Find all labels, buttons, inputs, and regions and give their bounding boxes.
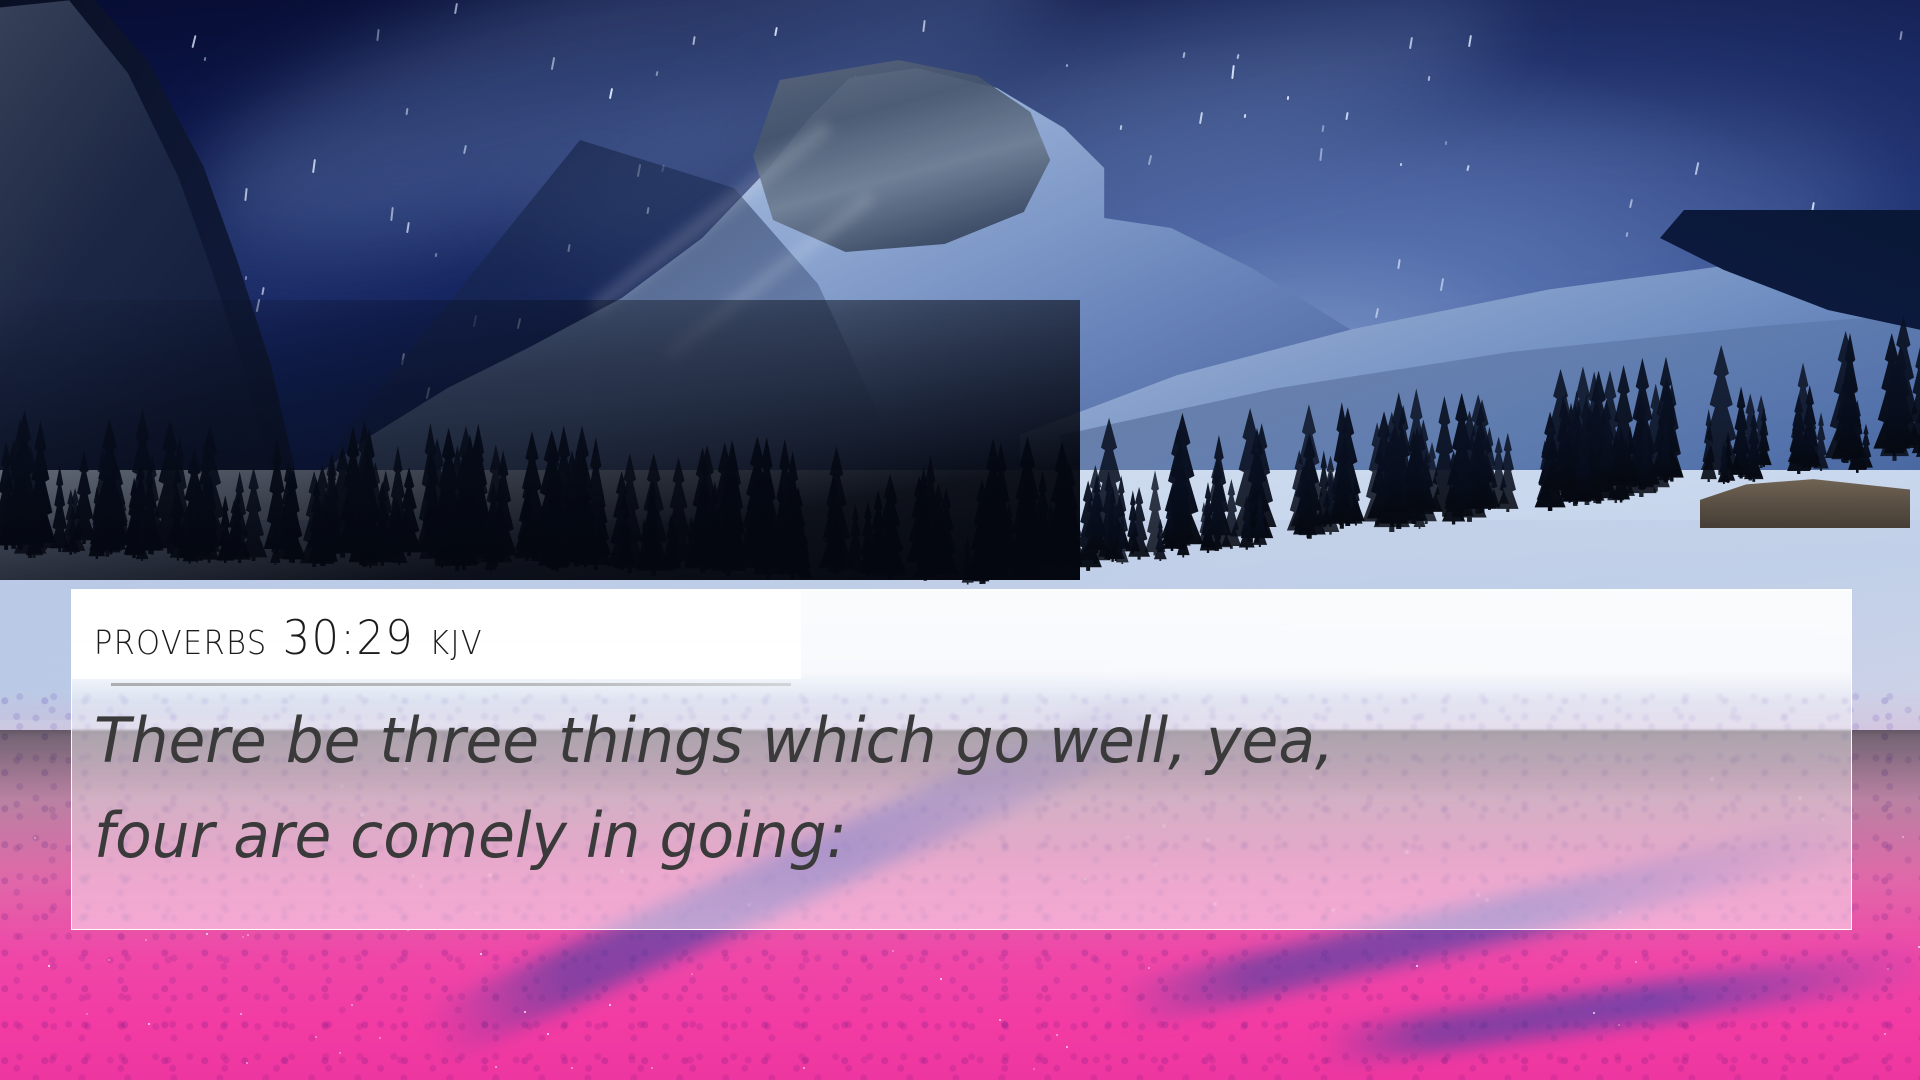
snow-sparkle	[651, 1067, 653, 1069]
snow-sparkle	[242, 936, 244, 938]
snow-sparkle	[246, 1062, 248, 1064]
star	[406, 108, 408, 115]
snow-sparkle	[240, 1013, 242, 1015]
snow-sparkle	[1887, 968, 1889, 970]
snow-sparkle	[379, 1037, 381, 1039]
star	[1319, 148, 1322, 161]
star	[1120, 125, 1122, 130]
star	[655, 71, 658, 76]
star	[1428, 76, 1430, 81]
star	[1322, 125, 1324, 132]
snow-sparkle	[892, 950, 894, 952]
snow-sparkle	[1593, 1012, 1595, 1014]
star	[1236, 54, 1239, 59]
verse-reference: Proverbs 30:29 KJV	[94, 611, 483, 666]
snow-sparkle	[940, 978, 942, 980]
forest-shadow	[0, 300, 1080, 580]
star	[1409, 37, 1412, 49]
star	[1625, 232, 1628, 237]
snow-sparkle	[495, 1066, 497, 1068]
verse-panel: Proverbs 30:29 KJV There be three things…	[71, 589, 1852, 930]
snow-sparkle	[547, 1033, 549, 1035]
snow-sparkle	[999, 1019, 1001, 1021]
star	[1695, 162, 1699, 175]
star	[609, 88, 613, 99]
star	[1287, 96, 1289, 100]
star	[1468, 35, 1471, 47]
snow-sparkle	[1056, 1034, 1058, 1036]
snow-sparkle	[86, 1013, 88, 1015]
star	[1400, 163, 1402, 166]
star	[1899, 31, 1902, 40]
snow-sparkle	[247, 934, 249, 936]
snow-sparkle	[145, 939, 147, 941]
star	[1182, 52, 1185, 58]
reference-underline	[111, 683, 791, 686]
snow-sparkle	[480, 953, 482, 955]
snow-sparkle	[1884, 1033, 1886, 1035]
star	[1466, 165, 1469, 171]
star	[406, 222, 409, 233]
star	[1231, 65, 1234, 79]
star	[922, 20, 925, 32]
star	[1445, 141, 1447, 145]
wallpaper-scene: Proverbs 30:29 KJV There be three things…	[0, 0, 1920, 1080]
star	[463, 145, 466, 154]
snow-sparkle	[206, 933, 208, 935]
snow-sparkle	[34, 837, 36, 839]
snow-sparkle	[1635, 961, 1637, 963]
star	[774, 27, 777, 36]
snow-sparkle	[609, 1004, 611, 1006]
star	[191, 35, 196, 48]
snow-sparkle	[803, 1067, 805, 1069]
star	[692, 36, 695, 45]
star	[1148, 155, 1152, 165]
star	[390, 207, 393, 221]
snow-sparkle	[691, 973, 693, 975]
snow-sparkle	[339, 1052, 341, 1054]
snow-sparkle	[108, 959, 110, 961]
snow-sparkle	[1148, 967, 1150, 969]
star	[1066, 64, 1068, 67]
snow-sparkle	[148, 1023, 150, 1025]
snow-sparkle	[48, 965, 50, 967]
star	[1199, 112, 1203, 124]
star	[244, 188, 247, 201]
star	[1345, 112, 1348, 120]
star	[312, 159, 315, 173]
snow-sparkle	[1066, 1046, 1068, 1048]
star	[204, 57, 206, 61]
star	[454, 3, 457, 14]
star	[1244, 114, 1246, 118]
snow-sparkle	[1033, 1068, 1035, 1070]
star	[551, 57, 555, 70]
snow-sparkle	[1618, 1024, 1620, 1026]
snow-sparkle	[571, 1067, 573, 1069]
snow-sparkle	[1902, 836, 1904, 838]
snow-sparkle	[1416, 965, 1418, 967]
snow-sparkle	[315, 1036, 317, 1038]
star	[376, 29, 379, 41]
snow-sparkle	[351, 1004, 353, 1006]
verse-text: There be three things which go well, yea…	[94, 693, 1773, 883]
snow-sparkle	[524, 1011, 526, 1013]
star	[1629, 199, 1633, 208]
